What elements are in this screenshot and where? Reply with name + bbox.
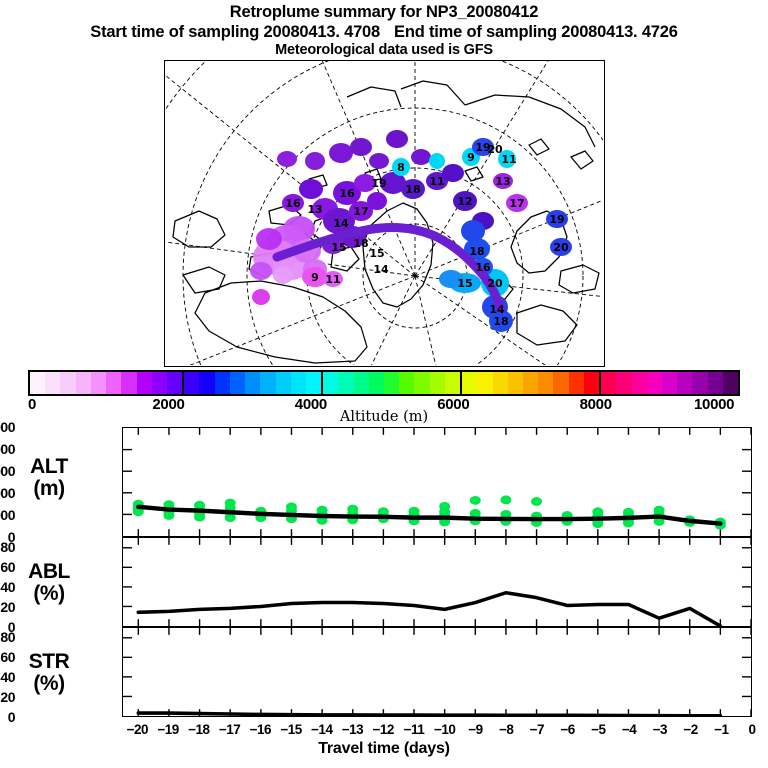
x-tick-label: −4 [622,722,636,737]
str-row-label: STR(%) [6,651,92,695]
colorbar-swatch [91,372,106,394]
y-tick-label: 2000 [0,507,15,523]
y-tick-label: 10000 [0,419,15,435]
svg-text:18: 18 [353,237,368,250]
svg-text:14: 14 [373,263,389,276]
x-axis-label: Travel time (days) [0,740,768,758]
svg-text:11: 11 [429,175,444,188]
colorbar-swatch [708,372,723,394]
colorbar-swatch [199,372,214,394]
colorbar-swatch [616,372,631,394]
colorbar-swatch [323,372,338,394]
svg-text:9: 9 [311,271,319,284]
header-block: Retroplume summary for NP3_20080412 Star… [0,0,768,59]
x-tick-label: −18 [188,722,209,737]
colorbar-swatch [538,372,553,394]
svg-text:11: 11 [501,153,516,166]
x-tick-label: −17 [219,722,240,737]
colorbar-swatch [30,372,45,394]
scatter-marker [163,511,174,520]
colorbar-swatch [76,372,91,394]
colorbar-swatch [137,372,152,394]
colorbar-swatch [723,372,738,394]
colorbar-swatch [430,372,445,394]
colorbar-swatch [152,372,167,394]
colorbar-swatch [414,372,429,394]
x-tick-label: −10 [434,722,455,737]
colorbar-swatch [306,372,321,394]
x-tick-label: −1 [714,722,728,737]
svg-text:11: 11 [325,273,340,286]
svg-text:19: 19 [371,177,386,190]
colorbar-swatch [276,372,291,394]
svg-text:17: 17 [509,197,524,210]
svg-text:12: 12 [457,195,472,208]
y-tick-label: 60 [0,649,15,665]
y-tick-label: 60 [0,559,15,575]
scatter-marker [531,497,542,506]
colorbar-swatch [601,372,616,394]
x-tick-label: −20 [127,722,148,737]
end-time-label: End time of sampling 20080413. 4726 [394,23,678,41]
svg-text:18: 18 [405,183,420,196]
colorbar-swatch [553,372,568,394]
met-data-label: Meteorological data used is GFS [0,42,768,59]
abl-row-label: ABL(%) [6,561,92,605]
y-tick-label: 8000 [0,441,15,457]
colorbar-swatch [184,372,199,394]
map-canvas: 16 19 18 11 12 19 20 11 8 9 17 14 13 16 … [165,61,603,365]
colorbar-swatch [677,372,692,394]
colorbar-swatch [338,372,353,394]
y-tick-label: 4000 [0,485,15,501]
colorbar-swatch [493,372,508,394]
svg-text:18: 18 [469,245,484,258]
colorbar-swatch [647,372,662,394]
svg-text:16: 16 [285,197,301,210]
svg-text:16: 16 [339,187,355,200]
x-tick-label: −19 [157,722,178,737]
sampling-time-line: Start time of sampling 20080413. 4708End… [0,22,768,42]
colorbar-label: Altitude (m) [0,409,768,425]
x-tick-label: −5 [591,722,605,737]
x-tick-label: −8 [499,722,513,737]
svg-text:19: 19 [549,213,564,226]
colorbar-swatch [167,372,182,394]
colorbar-swatch [369,372,384,394]
y-tick-label: 80 [0,629,15,645]
colorbar-swatch [121,372,136,394]
y-tick-label: 40 [0,669,15,685]
x-tick-label: −15 [280,722,301,737]
svg-text:13: 13 [307,203,322,216]
colorbar-swatch [106,372,121,394]
alt-row-label: ALT(m) [6,456,92,500]
altitude-colorbar[interactable] [28,370,740,396]
svg-text:17: 17 [353,205,368,218]
x-tick-label: −14 [311,722,332,737]
colorbar-swatch [230,372,245,394]
colorbar-swatch [399,372,414,394]
svg-text:20: 20 [487,277,503,290]
colorbar-swatch [45,372,60,394]
x-tick-label: −13 [342,722,363,737]
abl-plot-area [123,538,751,626]
colorbar-swatch [662,372,677,394]
start-time-label: Start time of sampling 20080413. 4708 [90,23,380,41]
x-tick-label: −12 [373,722,394,737]
colorbar-swatch [60,372,75,394]
colorbar-swatch [632,372,647,394]
retroplume-markers [250,130,572,332]
svg-text:15: 15 [457,277,472,290]
x-tick-label: −11 [404,722,425,737]
svg-text:16: 16 [475,261,491,274]
x-tick-labels: −20−19−18−17−16−15−14−13−12−11−10−9−8−7−… [0,722,768,740]
svg-text:13: 13 [495,175,510,188]
colorbar-swatch [384,372,399,394]
svg-text:15: 15 [369,247,384,260]
colorbar-swatch [245,372,260,394]
x-tick-label: 0 [748,722,755,737]
x-tick-label: −6 [560,722,574,737]
x-tick-label: −3 [653,722,667,737]
x-tick-label: −9 [468,722,482,737]
str-panel[interactable] [122,627,752,717]
coastlines [173,81,599,363]
scatter-marker [470,496,481,505]
x-tick-label: −7 [530,722,544,737]
alt-panel[interactable] [122,427,752,537]
colorbar-swatch [523,372,538,394]
colorbar-swatch [291,372,306,394]
page-title: Retroplume summary for NP3_20080412 [0,2,768,22]
mean-line [138,713,720,716]
colorbar-swatch [569,372,584,394]
colorbar-swatch [445,372,460,394]
mean-line [138,593,720,626]
alt-plot-area [123,428,751,536]
colorbar-swatch [260,372,275,394]
colorbar-swatch [477,372,492,394]
scatter-marker [194,513,205,522]
y-tick-label: 80 [0,539,15,555]
svg-text:14: 14 [333,217,349,230]
y-tick-label: 20 [0,689,15,705]
svg-text:15: 15 [331,241,346,254]
x-tick-label: −16 [250,722,271,737]
y-tick-label: 40 [0,579,15,595]
x-tick-label: −2 [683,722,697,737]
str-plot-area [123,628,751,716]
colorbar-swatch [215,372,230,394]
polar-map[interactable]: 16 19 18 11 12 19 20 11 8 9 17 14 13 16 … [164,60,605,367]
colorbar-swatch [354,372,369,394]
colorbar-swatch [462,372,477,394]
abl-panel[interactable] [122,537,752,627]
svg-text:8: 8 [397,161,405,174]
colorbar-swatch [584,372,599,394]
y-tick-label: 6000 [0,463,15,479]
svg-text:20: 20 [553,241,569,254]
svg-text:18: 18 [493,315,508,328]
scatter-marker [500,495,511,504]
svg-text:9: 9 [467,151,475,164]
y-tick-label: 20 [0,599,15,615]
colorbar-swatch [692,372,707,394]
colorbar-swatch [508,372,523,394]
